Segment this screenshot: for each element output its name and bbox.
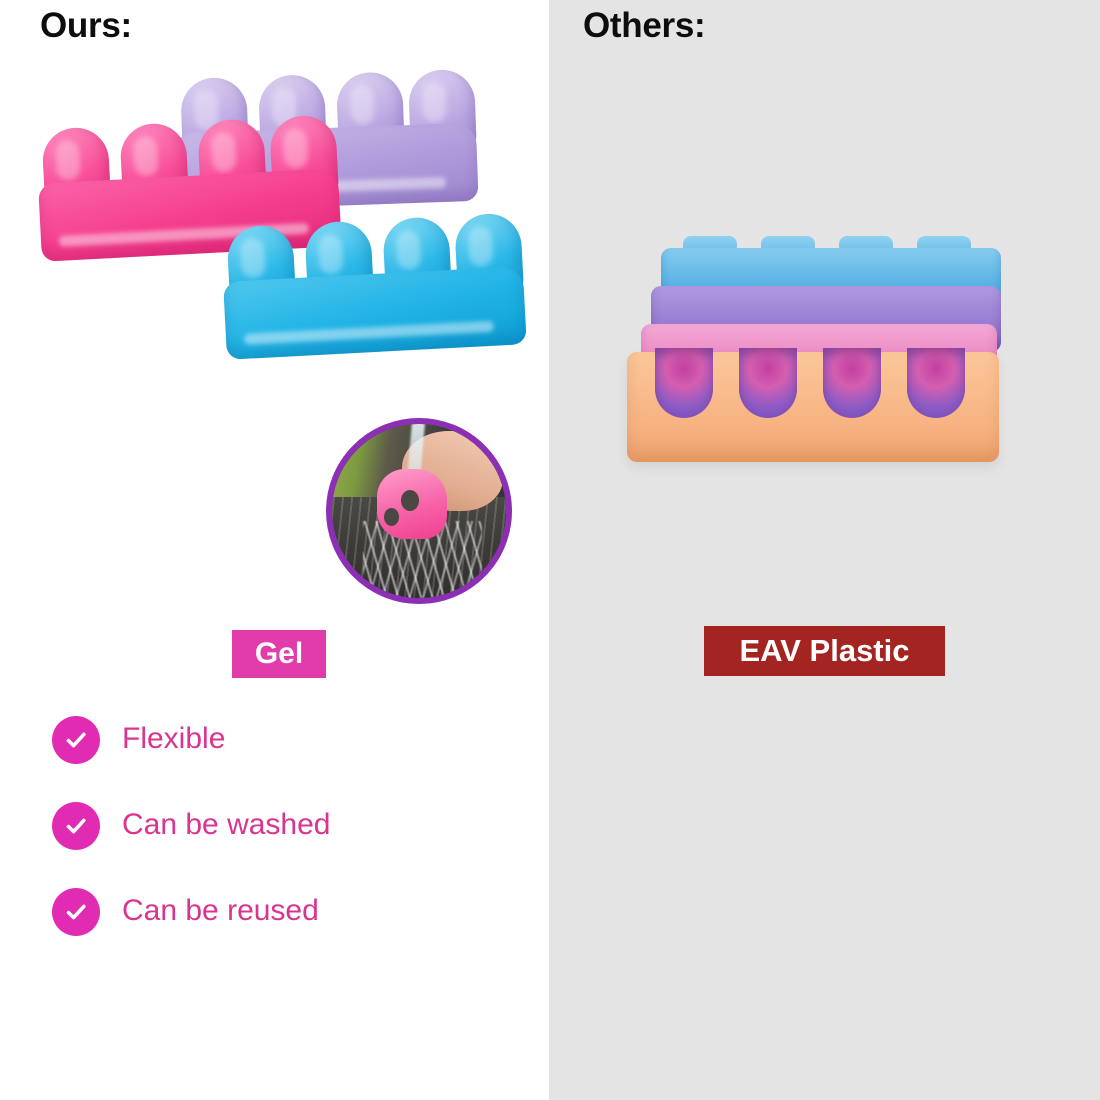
ours-heading: Ours: — [40, 6, 132, 46]
list-item: Can be reused — [52, 888, 492, 936]
washing-under-water-photo — [326, 418, 512, 604]
check-icon — [52, 716, 100, 764]
list-item: Can be washed — [52, 802, 492, 850]
gel-material-badge: Gel — [232, 630, 326, 678]
check-icon — [52, 888, 100, 936]
foam-product-image — [627, 248, 1027, 468]
ours-panel: Ours: — [0, 0, 549, 1100]
orange-foam-layer — [627, 352, 999, 462]
blue-gel-separator — [219, 194, 526, 359]
ours-feature-list: Flexible Can be washed Can be reused — [52, 716, 492, 974]
gel-product-image — [18, 52, 528, 522]
product-comparison-board: Ours: — [0, 0, 1100, 1100]
others-panel: Others: EAV Plastic — [549, 0, 1100, 1100]
list-item: Flexible — [52, 716, 492, 764]
eav-badge-label: EAV Plastic — [739, 633, 909, 669]
check-icon — [52, 802, 100, 850]
list-item-label: Can be reused — [122, 888, 319, 930]
list-item-label: Flexible — [122, 716, 225, 758]
others-heading: Others: — [583, 6, 705, 46]
list-item-label: Can be washed — [122, 802, 330, 844]
gel-badge-label: Gel — [255, 637, 303, 671]
eav-plastic-material-badge: EAV Plastic — [704, 626, 945, 676]
